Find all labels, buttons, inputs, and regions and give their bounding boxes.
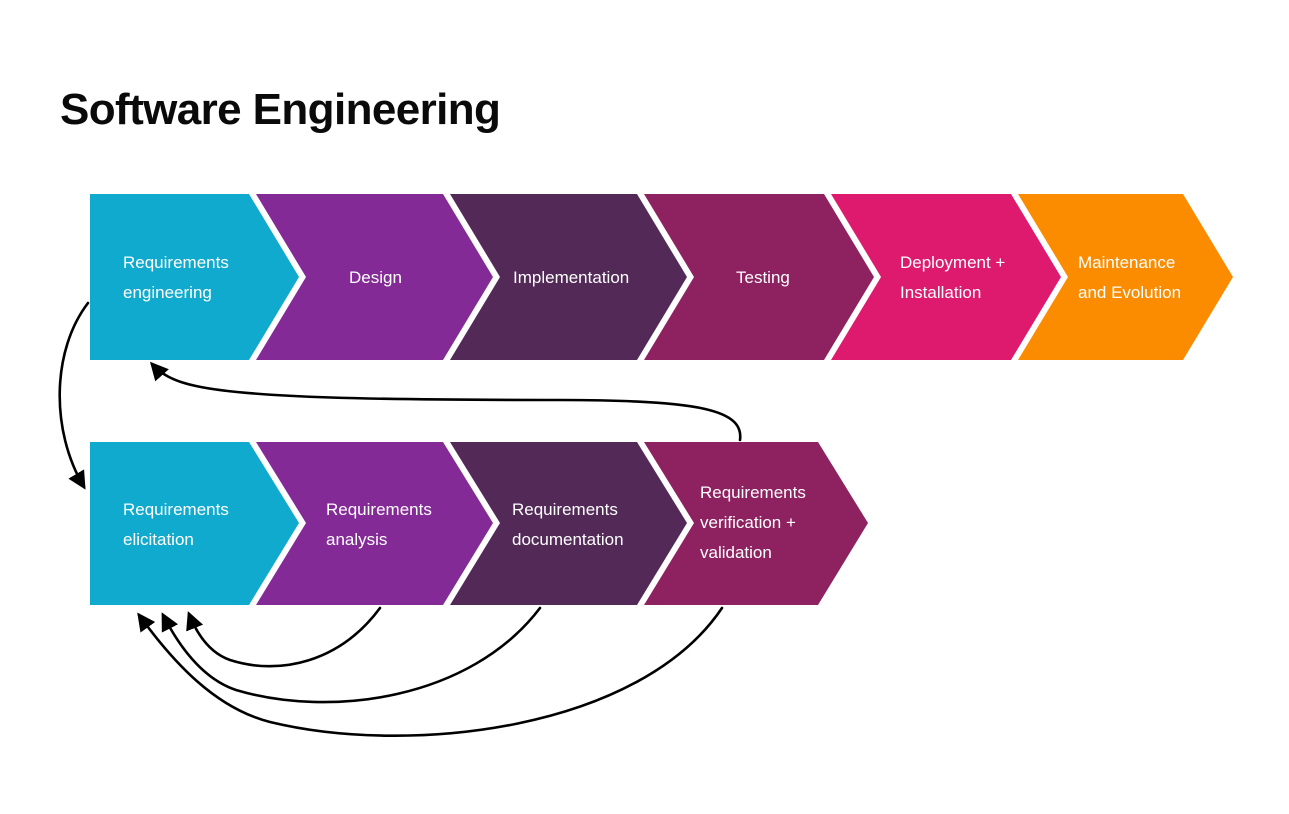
diagram-canvas: Software Engineering Requirements engine… <box>0 0 1289 814</box>
feedback-arrow-verification-to-engineering <box>152 364 740 440</box>
chevron-requirements-engineering[interactable] <box>90 194 299 360</box>
top-row-chevrons <box>90 194 1233 360</box>
feedback-arrow-analysis-to-elicitation <box>189 608 380 666</box>
chevron-requirements-elicitation[interactable] <box>90 442 299 605</box>
page-title: Software Engineering <box>60 88 500 132</box>
feedback-arrow-validation-to-elicitation <box>139 608 722 736</box>
drilldown-arrow-requirements-engineering <box>60 303 88 487</box>
bottom-row-chevrons <box>90 442 868 605</box>
